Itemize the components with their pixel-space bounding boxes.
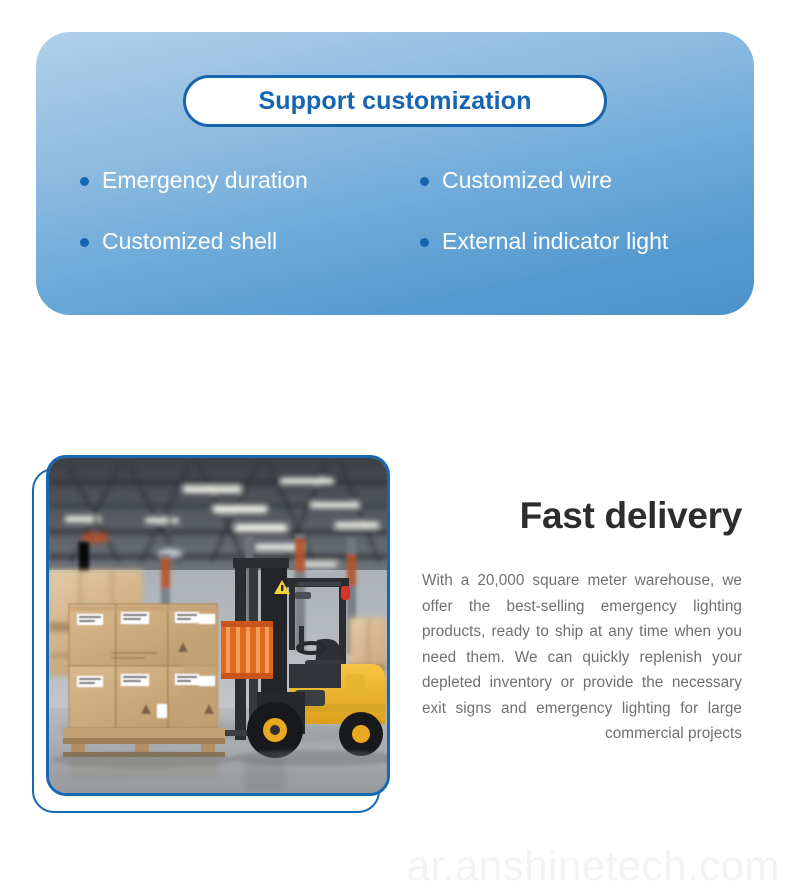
warehouse-forklift-photo — [46, 455, 390, 796]
support-customization-banner: Support customization Emergency duration… — [36, 32, 754, 315]
feature-item-external-indicator-light: External indicator light — [420, 211, 720, 272]
feature-item-customized-shell: Customized shell — [80, 211, 420, 272]
feature-item-customized-wire: Customized wire — [420, 150, 720, 211]
fast-delivery-heading: Fast delivery — [422, 496, 742, 537]
support-customization-title-pill: Support customization — [183, 75, 607, 127]
fast-delivery-description: With a 20,000 square meter warehouse, we… — [422, 568, 742, 747]
feature-label-customized-shell: Customized shell — [102, 229, 277, 254]
site-watermark: ar.anshinetech.com — [0, 845, 780, 887]
bullet-dot-icon — [420, 177, 429, 186]
feature-label-emergency-duration: Emergency duration — [102, 168, 308, 193]
feature-label-external-indicator-light: External indicator light — [442, 229, 668, 254]
support-customization-title: Support customization — [259, 89, 532, 114]
feature-item-emergency-duration: Emergency duration — [80, 150, 420, 211]
bullet-dot-icon — [420, 238, 429, 247]
fast-delivery-photo-block — [32, 455, 402, 815]
customization-feature-list: Emergency duration Customized wire Custo… — [80, 150, 720, 272]
warehouse-scene-illustration — [49, 458, 387, 793]
feature-label-customized-wire: Customized wire — [442, 168, 612, 193]
bullet-dot-icon — [80, 177, 89, 186]
bullet-dot-icon — [80, 238, 89, 247]
